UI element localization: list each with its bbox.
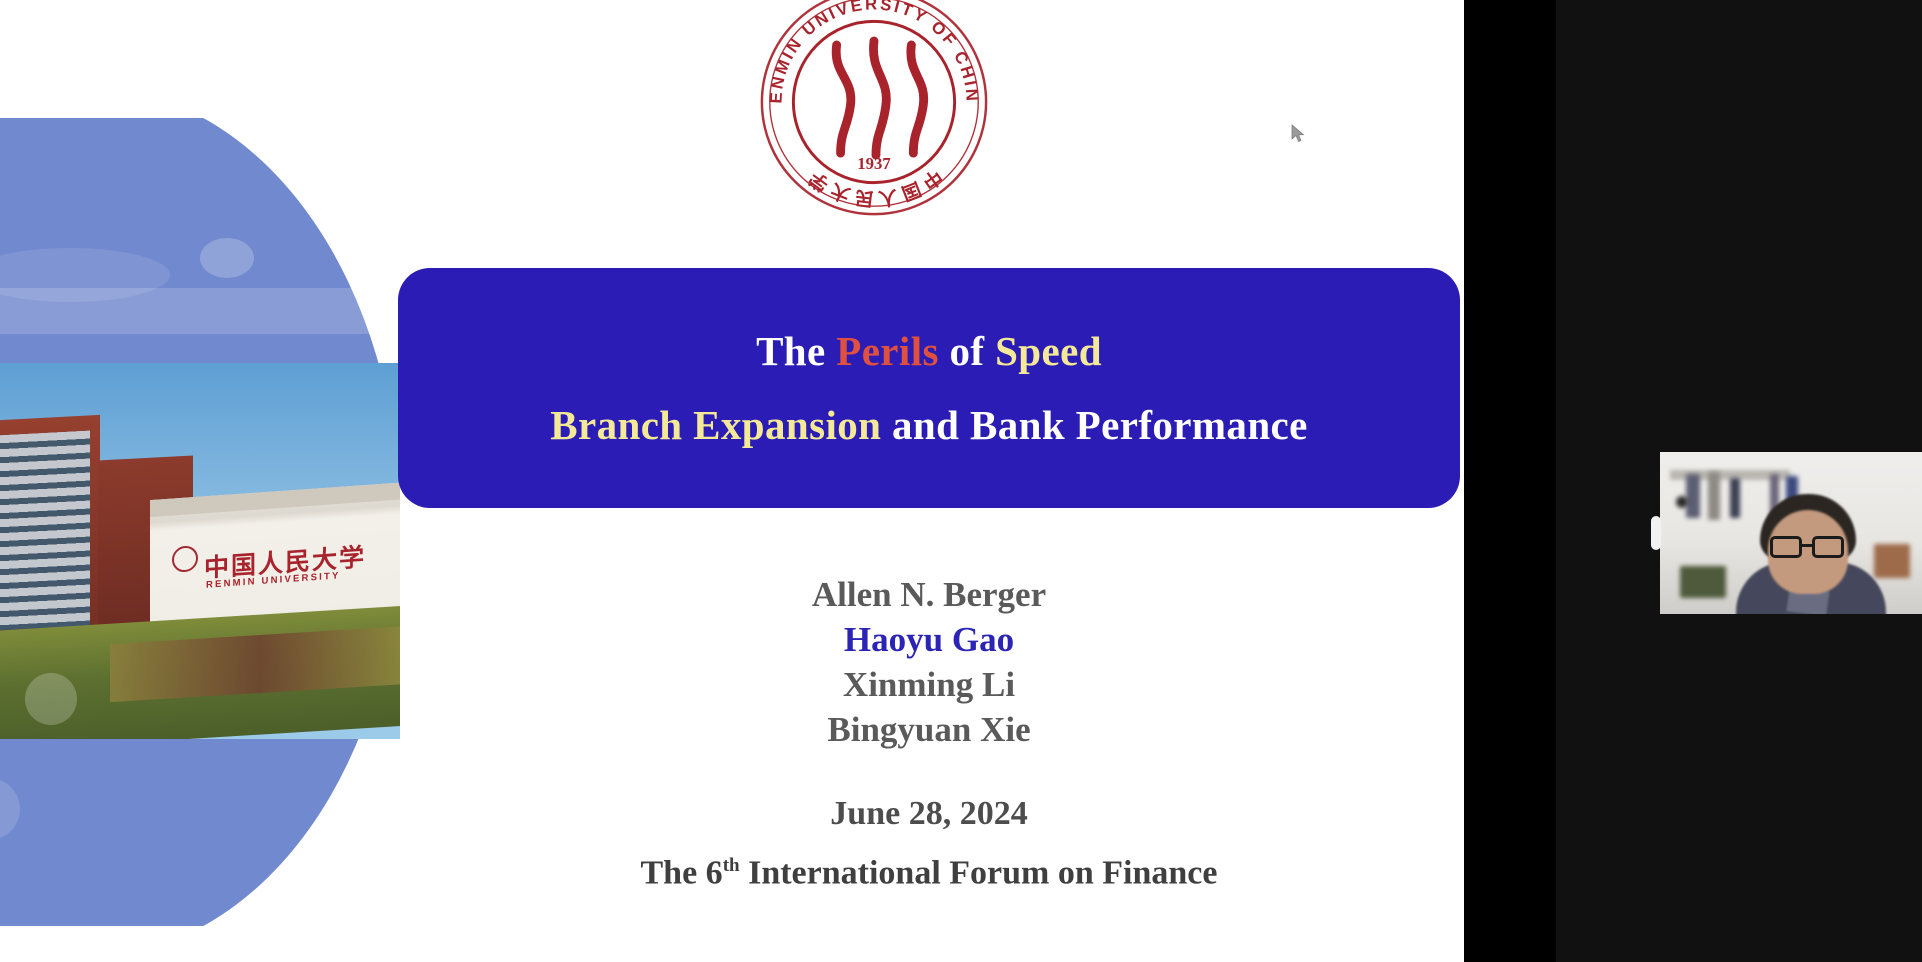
blue-ellipse-decoration: 中国人民大学 RENMIN UNIVERSITY — [0, 118, 400, 926]
svg-text:RENMIN UNIVERSITY OF CHINA: RENMIN UNIVERSITY OF CHINA — [756, 0, 982, 104]
title-part-perils: Perils — [836, 328, 939, 374]
svg-text:1937: 1937 — [857, 154, 890, 173]
slide-title-banner: The Perils of Speed Branch Expansion and… — [398, 268, 1460, 508]
subtitle-part-branch-expansion: Branch Expansion — [550, 402, 881, 448]
mouse-pointer — [1290, 124, 1306, 144]
event-suffix: International Forum on Finance — [740, 854, 1218, 891]
presentation-date: June 28, 2024 — [398, 790, 1460, 838]
author-list: Allen N. Berger Haoyu Gao Xinming Li Bin… — [398, 572, 1460, 752]
title-part-the: The — [756, 328, 836, 374]
slide-footer: June 28, 2024 The 6th International Foru… — [398, 790, 1460, 901]
decoration-dot — [25, 673, 77, 725]
decoration-dot — [200, 238, 254, 278]
author-name: Xinming Li — [398, 662, 1460, 707]
event-prefix: The 6 — [641, 854, 723, 891]
title-part-speed: Speed — [995, 328, 1102, 374]
author-name: Haoyu Gao — [398, 617, 1460, 662]
self-view-participant-video[interactable] — [1660, 452, 1922, 614]
title-part-of: of — [939, 328, 995, 374]
subtitle-part-bank-performance: and Bank Performance — [881, 402, 1307, 448]
slide-title-line-2: Branch Expansion and Bank Performance — [550, 401, 1307, 449]
shared-slide[interactable]: 中国人民大学 RENMIN UNIVERSITY — [0, 0, 1464, 962]
event-name: The 6th International Forum on Finance — [398, 838, 1460, 901]
author-name: Allen N. Berger — [398, 572, 1460, 617]
video-panel-drag-handle[interactable] — [1651, 516, 1661, 550]
renmin-university-seal-icon: RENMIN UNIVERSITY OF CHINA 中国人民大学 1937 — [756, 0, 992, 220]
slide-title-line-1: The Perils of Speed — [756, 327, 1102, 375]
meeting-screen: 中国人民大学 RENMIN UNIVERSITY — [0, 0, 1922, 962]
author-name: Bingyuan Xie — [398, 707, 1460, 752]
event-ordinal: th — [723, 855, 740, 876]
participant-video-frame — [1660, 452, 1922, 614]
eyeglasses-icon — [1770, 536, 1846, 558]
